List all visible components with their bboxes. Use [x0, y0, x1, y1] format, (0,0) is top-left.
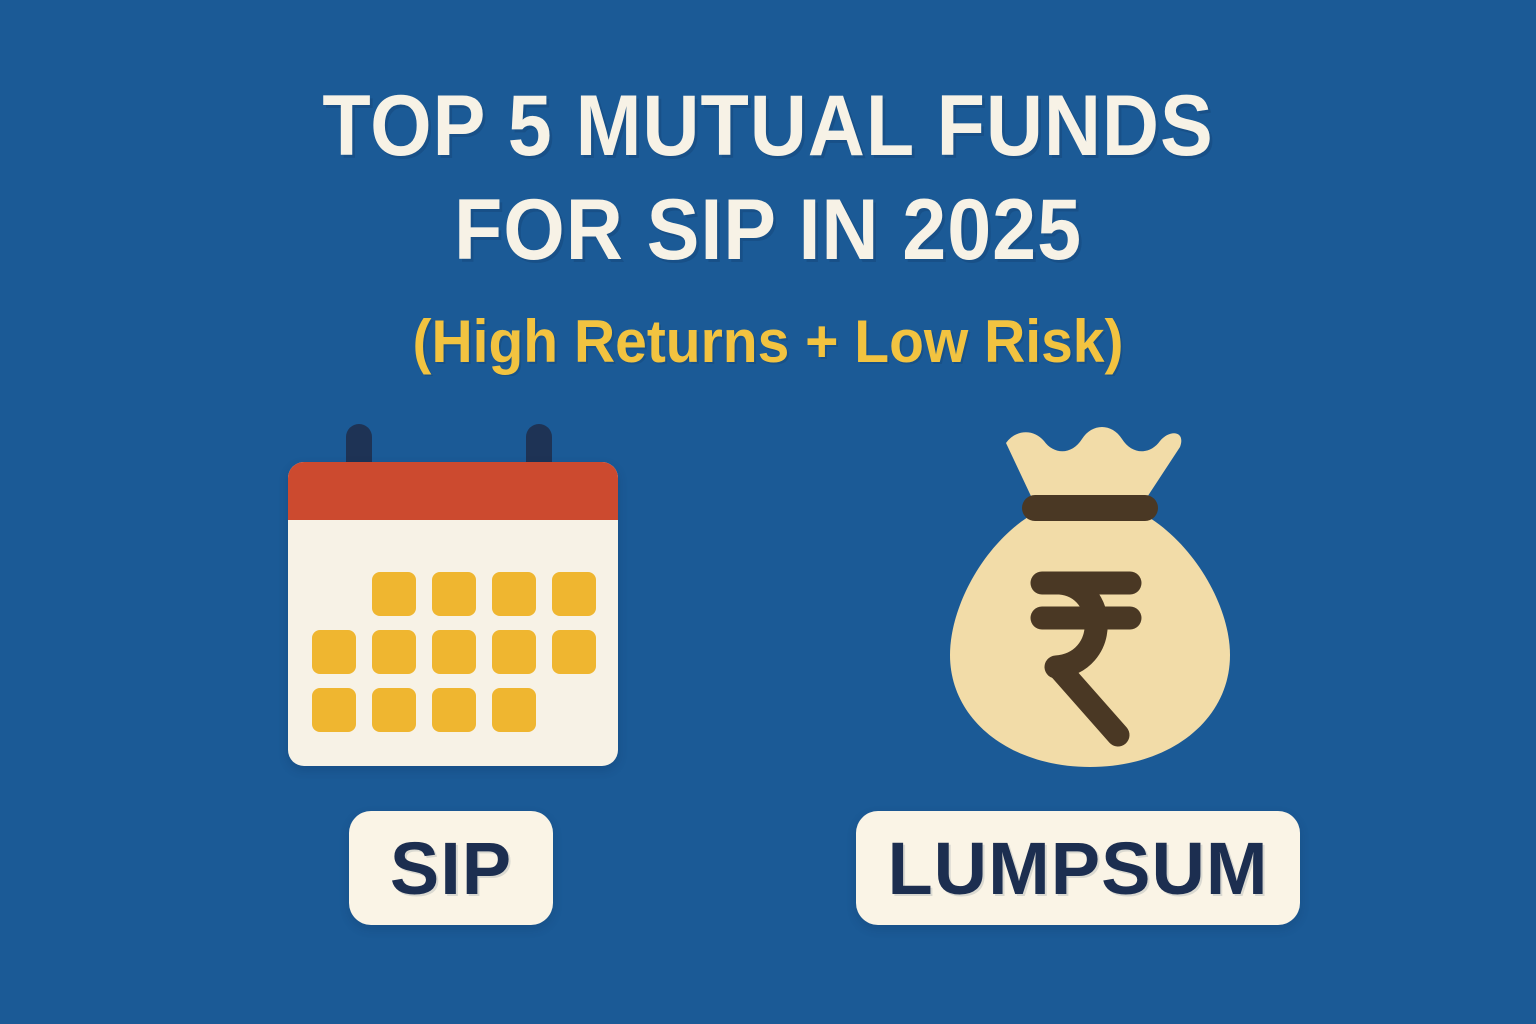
lumpsum-label-pill[interactable]: LUMPSUM — [856, 811, 1300, 925]
title-line-1: TOP 5 MUTUAL FUNDS — [61, 74, 1474, 178]
calendar-icon — [288, 424, 618, 766]
calendar-day-cell — [372, 630, 416, 674]
calendar-day-cell — [432, 630, 476, 674]
calendar-day-cell — [372, 572, 416, 616]
sip-label-text: SIP — [390, 826, 512, 911]
calendar-day-cell — [552, 572, 596, 616]
money-bag-tie — [1022, 495, 1158, 521]
calendar-body — [288, 462, 618, 766]
calendar-day-cell — [372, 688, 416, 732]
calendar-day-cell — [432, 688, 476, 732]
calendar-day-cell — [492, 630, 536, 674]
lumpsum-label-text: LUMPSUM — [887, 826, 1268, 911]
calendar-day-cell — [552, 688, 596, 732]
page-subtitle: (High Returns + Low Risk) — [38, 306, 1497, 378]
calendar-day-cell — [492, 572, 536, 616]
calendar-day-cell — [312, 688, 356, 732]
calendar-day-cell — [492, 688, 536, 732]
page-title: TOP 5 MUTUAL FUNDS FOR SIP IN 2025 — [0, 74, 1536, 282]
sip-label-pill[interactable]: SIP — [349, 811, 553, 925]
calendar-header-bar — [288, 462, 618, 520]
money-bag-icon — [930, 415, 1250, 775]
calendar-day-cell — [552, 630, 596, 674]
calendar-day-cell — [432, 572, 476, 616]
calendar-day-grid — [312, 572, 596, 732]
calendar-day-cell — [312, 572, 356, 616]
calendar-day-cell — [312, 630, 356, 674]
title-line-2: FOR SIP IN 2025 — [61, 178, 1474, 282]
poster-canvas: TOP 5 MUTUAL FUNDS FOR SIP IN 2025 (High… — [0, 0, 1536, 1024]
